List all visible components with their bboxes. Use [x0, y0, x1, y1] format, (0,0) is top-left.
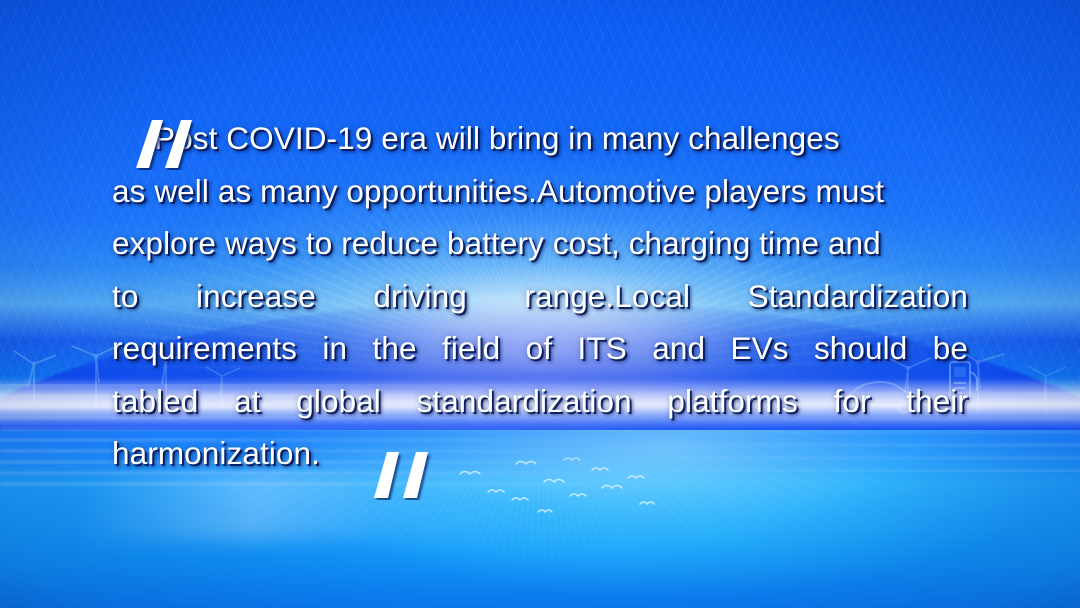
slide-canvas: Post COVID-19 era will bring in many cha… [0, 0, 1080, 608]
quote-line-2: as well as many opportunities.Automotive… [112, 165, 968, 218]
quote-line-7: harmonization. [112, 427, 968, 480]
quote-line-3: explore ways to reduce battery cost, cha… [112, 217, 968, 270]
quote-line-1: Post COVID-19 era will bring in many cha… [112, 112, 968, 165]
quote-line-6: tabled at global standardization platfor… [112, 375, 968, 428]
quote-line-4: to increase driving range.Local Standard… [112, 270, 968, 323]
quote-line-5: requirements in the field of ITS and EVs… [112, 322, 968, 375]
background-bottom-light-streak [86, 470, 518, 540]
quote-text: Post COVID-19 era will bring in many cha… [112, 112, 968, 480]
quote-block: Post COVID-19 era will bring in many cha… [112, 112, 968, 480]
